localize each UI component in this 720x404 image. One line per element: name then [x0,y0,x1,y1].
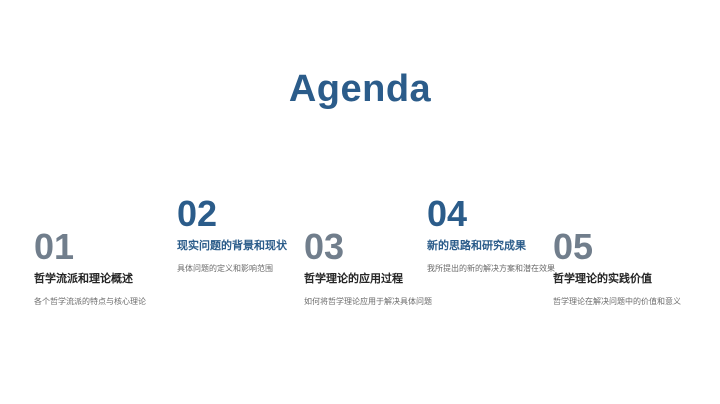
agenda-slide: Agenda 01 哲学流派和理论概述 各个哲学流派的特点与核心理论 02 现实… [0,0,720,404]
agenda-item-description: 如何将哲学理论应用于解决具体问题 [304,296,432,309]
agenda-item-heading: 现实问题的背景和现状 [177,239,313,254]
agenda-item-number: 05 [553,228,689,266]
agenda-item-heading: 新的思路和研究成果 [427,239,563,254]
agenda-item-number: 04 [427,195,563,233]
agenda-item-05[interactable]: 05 哲学理论的实践价值 哲学理论在解决问题中的价值和意义 [553,228,689,308]
agenda-list: 01 哲学流派和理论概述 各个哲学流派的特点与核心理论 02 现实问题的背景和现… [0,0,720,404]
agenda-item-04[interactable]: 04 新的思路和研究成果 我所提出的新的解决方案和潜在效果 [427,195,563,275]
agenda-item-description: 具体问题的定义和影响范围 [177,263,305,276]
agenda-item-number: 03 [304,228,440,266]
agenda-item-heading: 哲学理论的实践价值 [553,272,689,287]
agenda-item-02[interactable]: 02 现实问题的背景和现状 具体问题的定义和影响范围 [177,195,313,275]
agenda-item-number: 01 [34,228,170,266]
agenda-item-description: 哲学理论在解决问题中的价值和意义 [553,296,681,309]
agenda-item-number: 02 [177,195,313,233]
agenda-item-01[interactable]: 01 哲学流派和理论概述 各个哲学流派的特点与核心理论 [34,228,170,308]
agenda-item-description: 各个哲学流派的特点与核心理论 [34,296,162,309]
agenda-item-heading: 哲学流派和理论概述 [34,272,170,287]
agenda-item-description: 我所提出的新的解决方案和潜在效果 [427,263,555,276]
agenda-item-heading: 哲学理论的应用过程 [304,272,440,287]
agenda-item-03[interactable]: 03 哲学理论的应用过程 如何将哲学理论应用于解决具体问题 [304,228,440,308]
